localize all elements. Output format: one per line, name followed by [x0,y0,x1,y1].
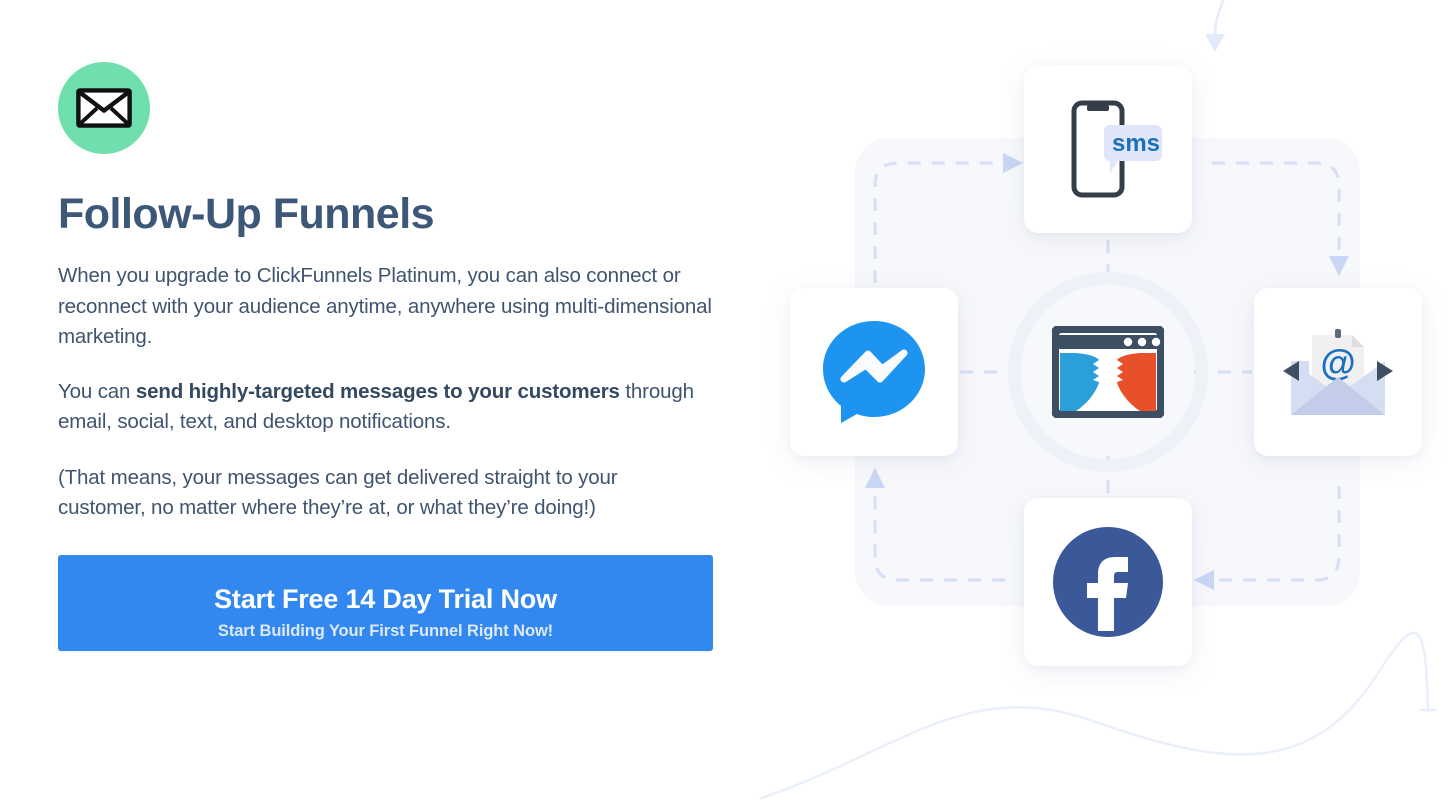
facebook-icon [1049,523,1167,641]
envelope-icon [76,88,132,128]
at-symbol-label: @ [1320,342,1355,383]
cta-main-label: Start Free 14 Day Trial Now [58,564,713,615]
page-title: Follow-Up Funnels [58,192,718,237]
emphasis-text: send highly-targeted messages to your cu… [136,380,620,403]
body-text: When you upgrade to ClickFunnels Platinu… [58,264,712,348]
sms-card[interactable]: sms [1024,65,1192,233]
email-at-envelope-icon: @ [1279,317,1397,427]
clickfunnels-browser-icon [1052,326,1164,418]
paragraph-1: When you upgrade to ClickFunnels Platinu… [58,261,713,353]
window-dot-3-icon [1152,338,1160,346]
messenger-card[interactable] [790,288,958,456]
cta-sub-label: Start Building Your First Funnel Right N… [58,615,713,641]
top-arrowhead-icon [1205,34,1225,52]
envelope-badge [58,62,150,154]
body-text: You can [58,380,136,403]
sms-label: sms [1112,130,1160,157]
top-decorative-curve [1215,0,1230,34]
email-card[interactable]: @ [1254,288,1422,456]
clickfunnels-logo [1024,288,1192,456]
facebook-card[interactable] [1024,498,1192,666]
window-dot-2-icon [1138,338,1146,346]
follow-up-funnels-section: Follow-Up Funnels When you upgrade to Cl… [0,0,1452,805]
multichannel-diagram: sms @ [760,0,1452,805]
paragraph-3: (That means, your messages can get deliv… [58,463,678,524]
facebook-messenger-icon [819,317,929,427]
phone-sms-icon: sms [1048,89,1168,209]
start-free-trial-button[interactable]: Start Free 14 Day Trial Now Start Buildi… [58,555,713,651]
copy-column: Follow-Up Funnels When you upgrade to Cl… [58,62,718,651]
paragraph-2: You can send highly-targeted messages to… [58,377,713,438]
body-text: (That means, your messages can get deliv… [58,466,617,520]
window-dot-1-icon [1124,338,1132,346]
